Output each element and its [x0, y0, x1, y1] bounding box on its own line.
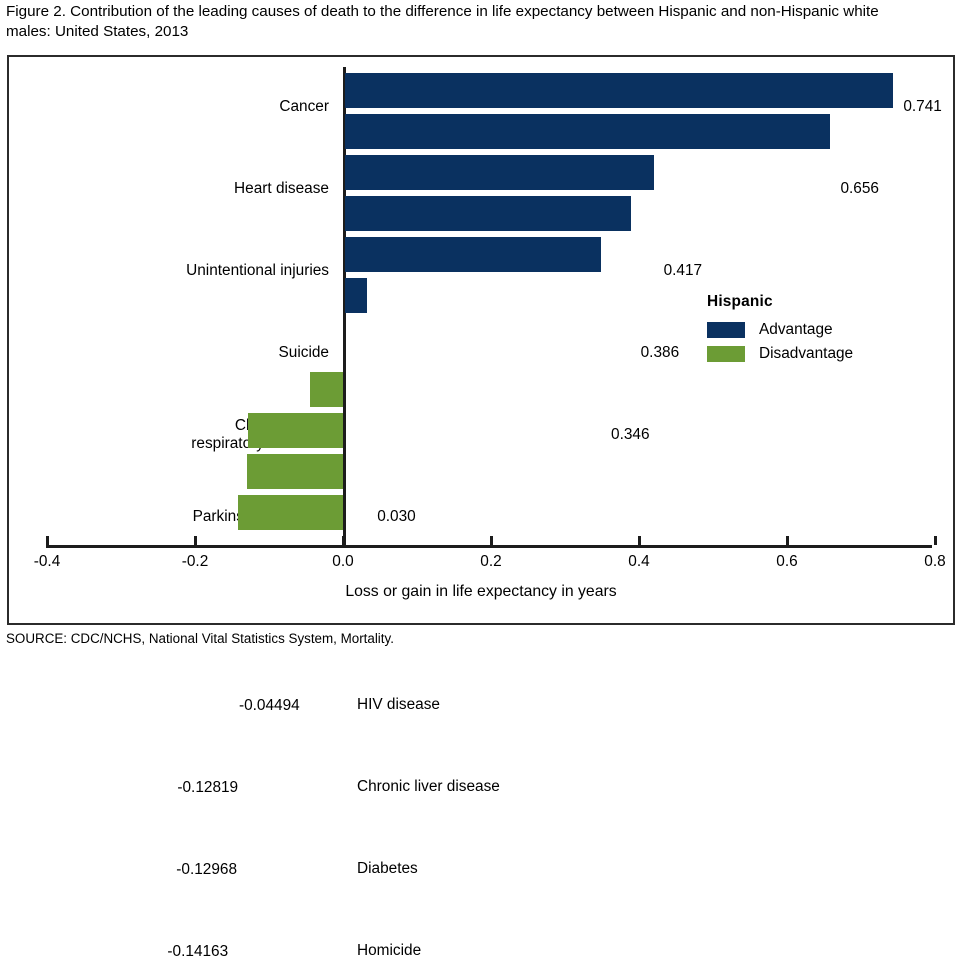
x-tick-label: -0.2	[155, 553, 235, 571]
category-label: Diabetes	[357, 860, 657, 878]
category-label: Suicide	[9, 344, 329, 362]
bar-row: Cancer0.741	[9, 73, 953, 108]
x-tick-label: 0.0	[303, 553, 383, 571]
bar-value-label: -0.14163	[9, 934, 228, 969]
x-tick-label: 0.6	[747, 553, 827, 571]
x-tick-label: -0.4	[7, 553, 87, 571]
bar-row: Chronic liver disease-0.12819	[9, 413, 953, 448]
bar-unintentional-injuries[interactable]	[345, 155, 654, 190]
category-label: Cancer	[9, 98, 329, 116]
figure-title: Figure 2. Contribution of the leading ca…	[6, 2, 906, 42]
legend-label-advantage: Advantage	[759, 321, 833, 339]
bar-homicide[interactable]	[238, 495, 343, 530]
bar-chronic-lower-respiratory-diseases[interactable]	[345, 237, 601, 272]
x-tick-mark	[342, 536, 345, 545]
legend-item-disadvantage[interactable]: Disadvantage	[707, 342, 853, 366]
x-tick-label: 0.2	[451, 553, 531, 571]
bar-row: Suicide0.386	[9, 196, 953, 231]
bar-row: HIV disease-0.04494	[9, 372, 953, 407]
bar-row: Homicide-0.14163	[9, 495, 953, 530]
bar-value-label: -0.04494	[9, 688, 300, 723]
x-tick-label: 0.8	[895, 553, 960, 571]
x-axis-line	[46, 545, 932, 548]
bar-row: Diabetes-0.12968	[9, 454, 953, 489]
bar-row: Unintentional injuries0.417	[9, 155, 953, 190]
legend-title: Hispanic	[707, 293, 853, 311]
bar-diabetes[interactable]	[247, 454, 343, 489]
bar-cancer[interactable]	[345, 73, 893, 108]
legend-label-disadvantage: Disadvantage	[759, 345, 853, 363]
bar-hiv-disease[interactable]	[310, 372, 343, 407]
x-axis-title: Loss or gain in life expectancy in years	[9, 583, 953, 601]
legend-swatch-disadvantage	[707, 346, 745, 362]
category-label: HIV disease	[357, 696, 657, 714]
bar-parkinson-s-disease[interactable]	[345, 278, 367, 313]
category-label: Chronic liver disease	[357, 778, 657, 796]
chart-legend: Hispanic Advantage Disadvantage	[707, 293, 853, 366]
category-label: Homicide	[357, 942, 657, 960]
x-tick-mark	[194, 536, 197, 545]
bar-heart-disease[interactable]	[345, 114, 830, 149]
bar-value-label: -0.12819	[9, 770, 238, 805]
x-axis: -0.4-0.20.00.20.40.60.8 Loss or gain in …	[9, 545, 953, 625]
x-tick-mark	[786, 536, 789, 545]
legend-item-advantage[interactable]: Advantage	[707, 318, 853, 342]
x-tick-mark	[934, 536, 937, 545]
x-tick-mark	[490, 536, 493, 545]
source-note: SOURCE: CDC/NCHS, National Vital Statist…	[6, 631, 394, 646]
bar-value-label: -0.12968	[9, 852, 237, 887]
x-tick-mark	[46, 536, 49, 545]
bar-value-label: 0.386	[641, 335, 680, 370]
chart-plot-area: Cancer0.741Heart disease0.656Unintention…	[9, 57, 953, 623]
x-tick-label: 0.4	[599, 553, 679, 571]
bar-suicide[interactable]	[345, 196, 631, 231]
bar-row: Chronic lower respiratory diseases0.346	[9, 237, 953, 272]
chart-plot-frame: Cancer0.741Heart disease0.656Unintention…	[7, 55, 955, 625]
x-tick-mark	[638, 536, 641, 545]
bar-row: Heart disease0.656	[9, 114, 953, 149]
legend-swatch-advantage	[707, 322, 745, 338]
bar-chronic-liver-disease[interactable]	[248, 413, 343, 448]
